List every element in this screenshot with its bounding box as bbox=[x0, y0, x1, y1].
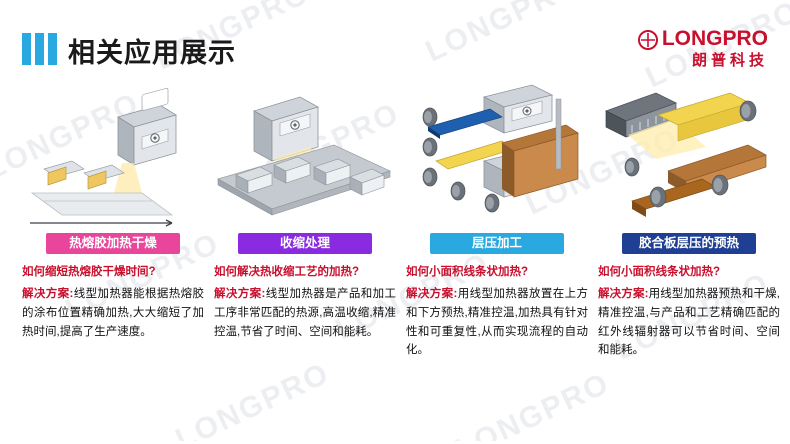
answer-label: 解决方案: bbox=[214, 288, 265, 300]
application-column: 胶合板层压的预热 如何小面积线条状加热? 解决方案:用线型加热器预热和干燥,精准… bbox=[598, 75, 780, 360]
badge-label: 热熔胶加热干燥 bbox=[46, 233, 180, 254]
answer-text: 解决方案:用线型加热器预热和干燥,精准控温,与产品和工艺精确匹配的红外线辐射器可… bbox=[598, 285, 780, 360]
title-accent-bars bbox=[22, 33, 57, 65]
application-column: 层压加工 如何小面积线条状加热? 解决方案:用线型加热器放置在上方和下方预热,精… bbox=[406, 75, 588, 360]
answer-text: 解决方案:用线型加热器放置在上方和下方预热,精准控温,加热具有针对性和可重复性,… bbox=[406, 285, 588, 360]
question-text: 如何小面积线条状加热? bbox=[598, 264, 780, 281]
page-title: 相关应用展示 bbox=[68, 31, 236, 70]
slide-canvas: LONGPRO LONGPRO LONGPRO LONGPRO LONGPRO … bbox=[0, 0, 790, 444]
answer-text: 解决方案:线型加热器是产品和加工工序非常匹配的热源,高温收缩,精准控温,节省了时… bbox=[214, 285, 396, 341]
watermark-text: LONGPRO bbox=[421, 0, 586, 69]
brand-logo-mark bbox=[638, 30, 658, 50]
brand-logo-subtext: 朗普科技 bbox=[662, 53, 768, 68]
illustration-hot-melt-glue-drying bbox=[22, 75, 204, 230]
question-text: 如何小面积线条状加热? bbox=[406, 264, 588, 281]
application-column: 收缩处理 如何解决热收缩工艺的加热? 解决方案:线型加热器是产品和加工工序非常匹… bbox=[214, 75, 396, 341]
illustration-plywood-lamination-preheat bbox=[598, 75, 780, 230]
watermark-text: LONGPRO bbox=[451, 367, 616, 444]
answer-label: 解决方案: bbox=[22, 288, 73, 300]
answer-label: 解决方案: bbox=[598, 288, 648, 300]
illustration-lamination-processing bbox=[406, 75, 588, 230]
illustration-shrink-processing bbox=[214, 75, 396, 230]
badge-label: 收缩处理 bbox=[238, 233, 372, 254]
watermark-text: LONGPRO bbox=[171, 357, 336, 444]
question-text: 如何解决热收缩工艺的加热? bbox=[214, 264, 396, 281]
brand-logo-text: LONGPRO bbox=[662, 28, 768, 49]
badge-label: 层压加工 bbox=[430, 233, 564, 254]
application-column: 热熔胶加热干燥 如何缩短热熔胶干燥时间? 解决方案:线型加热器能根据热熔胶的涂布… bbox=[22, 75, 204, 341]
answer-label: 解决方案: bbox=[406, 288, 457, 300]
badge-label: 胶合板层压的预热 bbox=[622, 233, 756, 254]
answer-text: 解决方案:线型加热器能根据热熔胶的涂布位置精确加热,大大缩短了加热时间,提高了生… bbox=[22, 285, 204, 341]
question-text: 如何缩短热熔胶干燥时间? bbox=[22, 264, 204, 281]
brand-logo: LONGPRO 朗普科技 bbox=[662, 28, 768, 68]
